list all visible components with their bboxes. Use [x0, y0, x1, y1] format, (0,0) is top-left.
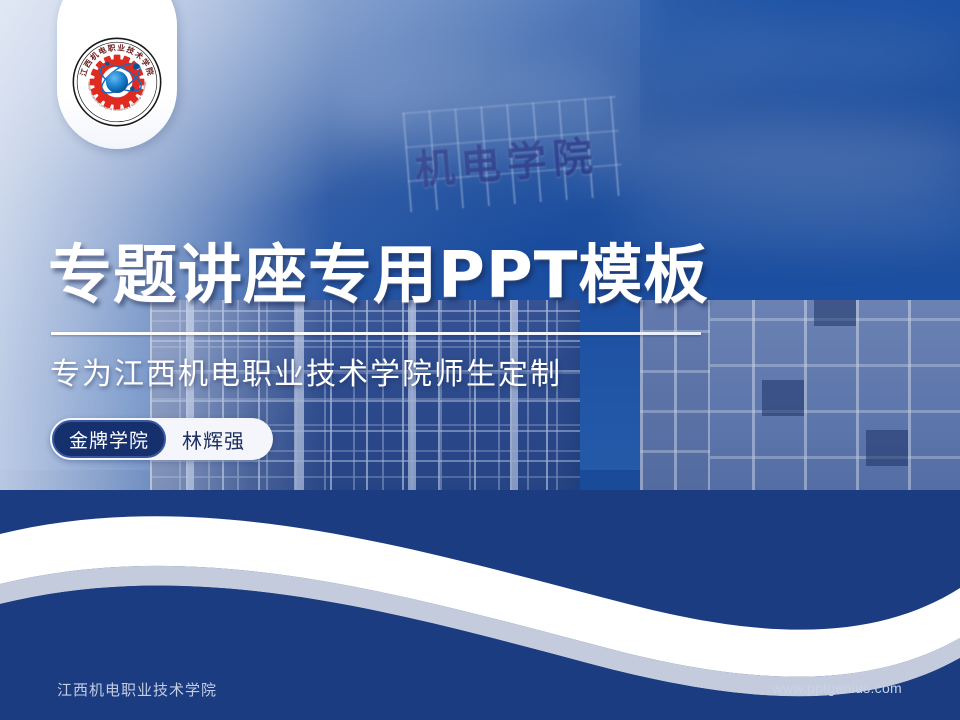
footer-website-url[interactable]: www.pptgenius.com	[772, 680, 902, 696]
title-slide: 机电学院	[0, 0, 960, 720]
logo-tab: 江西机电职业技术学院 Jiangxi Vocational College of…	[57, 0, 177, 149]
presenter-name: 林辉强	[166, 425, 253, 454]
page-subtitle: 专为江西机电职业技术学院师生定制	[50, 349, 562, 393]
footer-institution-label: 江西机电职业技术学院	[57, 679, 217, 700]
title-divider	[51, 332, 701, 335]
presenter-badge[interactable]: 金牌学院 林辉强	[50, 418, 273, 460]
page-title: 专题讲座专用PPT模板	[48, 243, 708, 310]
college-logo: 江西机电职业技术学院 Jiangxi Vocational College of…	[69, 34, 165, 130]
badge-tag-label: 金牌学院	[52, 420, 166, 458]
